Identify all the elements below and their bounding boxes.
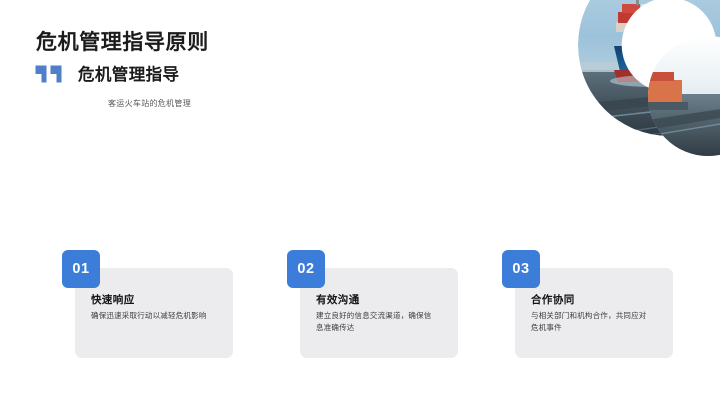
principle-card[interactable]: 03 合作协同 与相关部门和机构合作，共同应对危机事件 [502,250,682,360]
card-description: 确保迅速采取行动以减轻危机影响 [91,310,209,322]
card-number-badge: 01 [62,250,100,288]
principle-card[interactable]: 01 快速响应 确保迅速采取行动以减轻危机影响 [62,250,242,360]
principle-card-list: 01 快速响应 确保迅速采取行动以减轻危机影响 02 有效沟通 建立良好的信息交… [0,0,720,404]
card-description: 建立良好的信息交流渠道，确保信息准确传达 [316,310,434,335]
card-title: 合作协同 [531,292,575,307]
principle-card[interactable]: 02 有效沟通 建立良好的信息交流渠道，确保信息准确传达 [287,250,467,360]
card-number-badge: 02 [287,250,325,288]
card-title: 快速响应 [91,292,135,307]
card-title: 有效沟通 [316,292,360,307]
card-number-badge: 03 [502,250,540,288]
card-description: 与相关部门和机构合作，共同应对危机事件 [531,310,649,335]
